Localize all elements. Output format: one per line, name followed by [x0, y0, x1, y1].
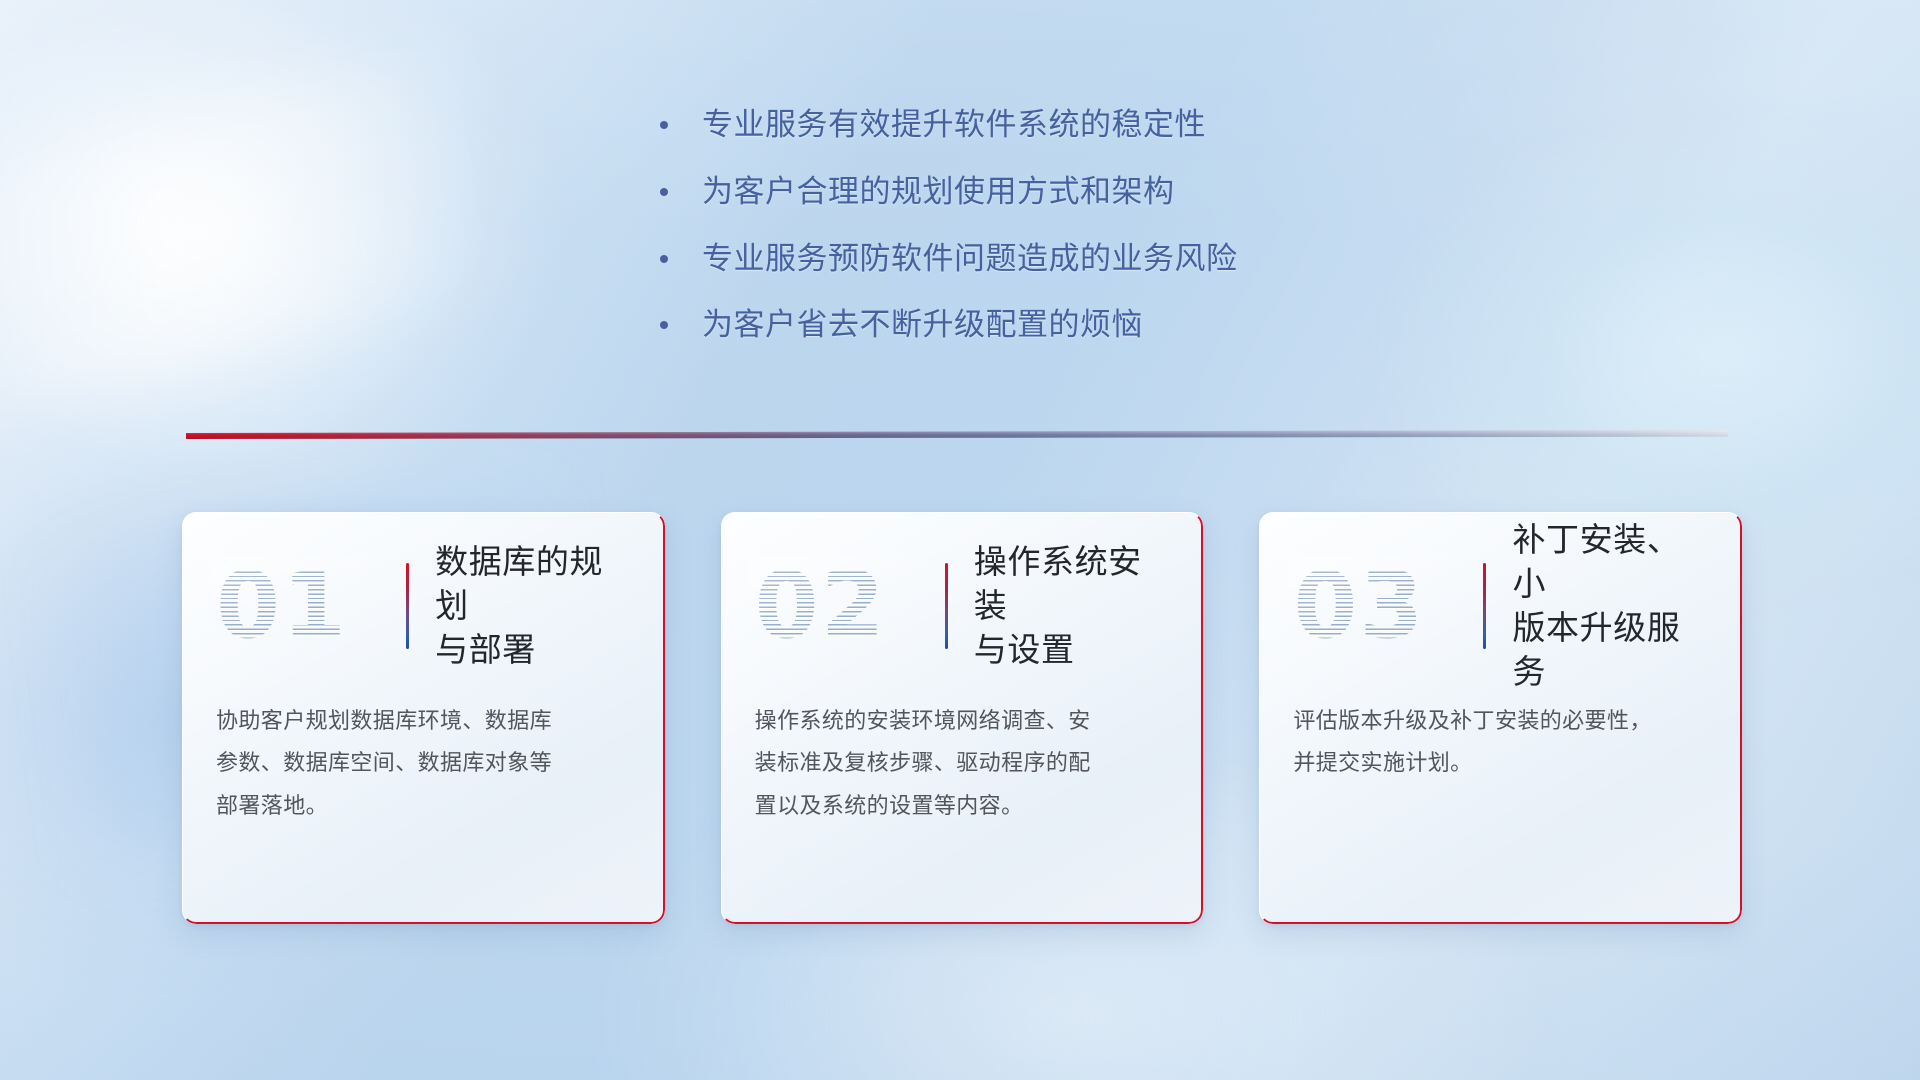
bullet-dot-icon: [660, 121, 668, 129]
card-title: 数据库的规划 与部署: [435, 540, 635, 672]
card-header: 02 操作系统安装 与设置: [721, 512, 1204, 664]
section-divider: [186, 424, 1728, 446]
list-item: 为客户省去不断升级配置的烦恼: [660, 306, 1420, 344]
card-description: 评估版本升级及补丁安装的必要性， 并提交实施计划。: [1259, 700, 1742, 785]
card-vertical-divider: [1483, 563, 1486, 649]
card-header: 03 补丁安装、小 版本升级服务: [1259, 512, 1742, 664]
bullet-text: 为客户省去不断升级配置的烦恼: [702, 306, 1143, 344]
card-vertical-divider: [945, 563, 948, 649]
card-number-watermark: 02: [755, 560, 943, 652]
bullet-dot-icon: [660, 255, 668, 263]
card-title: 补丁安装、小 版本升级服务: [1512, 518, 1712, 694]
card-description: 协助客户规划数据库环境、数据库 参数、数据库空间、数据库对象等 部署落地。: [182, 700, 665, 827]
service-card-01[interactable]: 01 数据库的规划 与部署 协助客户规划数据库环境、数据库 参数、数据库空间、数…: [182, 512, 665, 924]
service-card-03[interactable]: 03 补丁安装、小 版本升级服务 评估版本升级及补丁安装的必要性， 并提交实施计…: [1259, 512, 1742, 924]
service-card-row: 01 数据库的规划 与部署 协助客户规划数据库环境、数据库 参数、数据库空间、数…: [182, 512, 1742, 924]
bullet-dot-icon: [660, 188, 668, 196]
service-card-02[interactable]: 02 操作系统安装 与设置 操作系统的安装环境网络调查、安 装标准及复核步骤、驱…: [721, 512, 1204, 924]
bullet-dot-icon: [660, 321, 668, 329]
bullet-text: 专业服务预防软件问题造成的业务风险: [702, 240, 1238, 278]
bullet-text: 专业服务有效提升软件系统的稳定性: [702, 106, 1206, 144]
card-description: 操作系统的安装环境网络调查、安 装标准及复核步骤、驱动程序的配 置以及系统的设置…: [721, 700, 1204, 827]
card-number-watermark: 01: [216, 560, 404, 652]
benefits-bullet-list: 专业服务有效提升软件系统的稳定性 为客户合理的规划使用方式和架构 专业服务预防软…: [660, 106, 1420, 373]
list-item: 专业服务预防软件问题造成的业务风险: [660, 240, 1420, 278]
gradient-divider-sheen: [186, 430, 1728, 439]
card-vertical-divider: [406, 563, 409, 649]
list-item: 专业服务有效提升软件系统的稳定性: [660, 106, 1420, 144]
card-title: 操作系统安装 与设置: [974, 540, 1174, 672]
card-number-watermark: 03: [1293, 560, 1481, 652]
bullet-text: 为客户合理的规划使用方式和架构: [702, 173, 1175, 211]
list-item: 为客户合理的规划使用方式和架构: [660, 173, 1420, 211]
card-header: 01 数据库的规划 与部署: [182, 512, 665, 664]
